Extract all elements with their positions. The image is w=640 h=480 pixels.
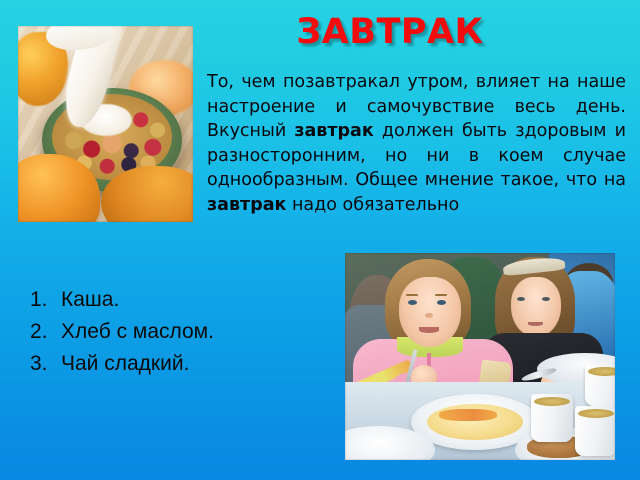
paragraph-part-3: надо обязательно — [286, 195, 459, 215]
list-item: 3. Чай сладкий. — [30, 348, 330, 380]
list-item-label: Чай сладкий. — [61, 348, 330, 380]
children-canteen-photo — [345, 253, 615, 460]
body-paragraph: То, чем позавтракал утром, влияет на наш… — [207, 70, 626, 217]
paragraph-bold-1: завтрак — [294, 121, 373, 141]
cereal-bowl-photo-content — [18, 26, 193, 222]
paragraph-bold-2: завтрак — [207, 195, 286, 215]
photo-border — [18, 26, 193, 222]
list-item-number: 2. — [30, 316, 61, 348]
list-item-number: 1. — [30, 284, 61, 316]
page-title: ЗАВТРАК — [200, 14, 580, 51]
presentation-slide: ЗАВТРАК То, чем позавтракал утром, влияе… — [0, 0, 640, 480]
cereal-bowl-photo — [18, 26, 193, 222]
list-item-label: Каша. — [61, 284, 330, 316]
list-item-label: Хлеб с маслом. — [61, 316, 330, 348]
photo-border — [345, 253, 615, 460]
list-item-number: 3. — [30, 348, 61, 380]
list-item: 2. Хлеб с маслом. — [30, 316, 330, 348]
list-item: 1. Каша. — [30, 284, 330, 316]
breakfast-list: 1. Каша. 2. Хлеб с маслом. 3. Чай сладки… — [30, 284, 330, 380]
